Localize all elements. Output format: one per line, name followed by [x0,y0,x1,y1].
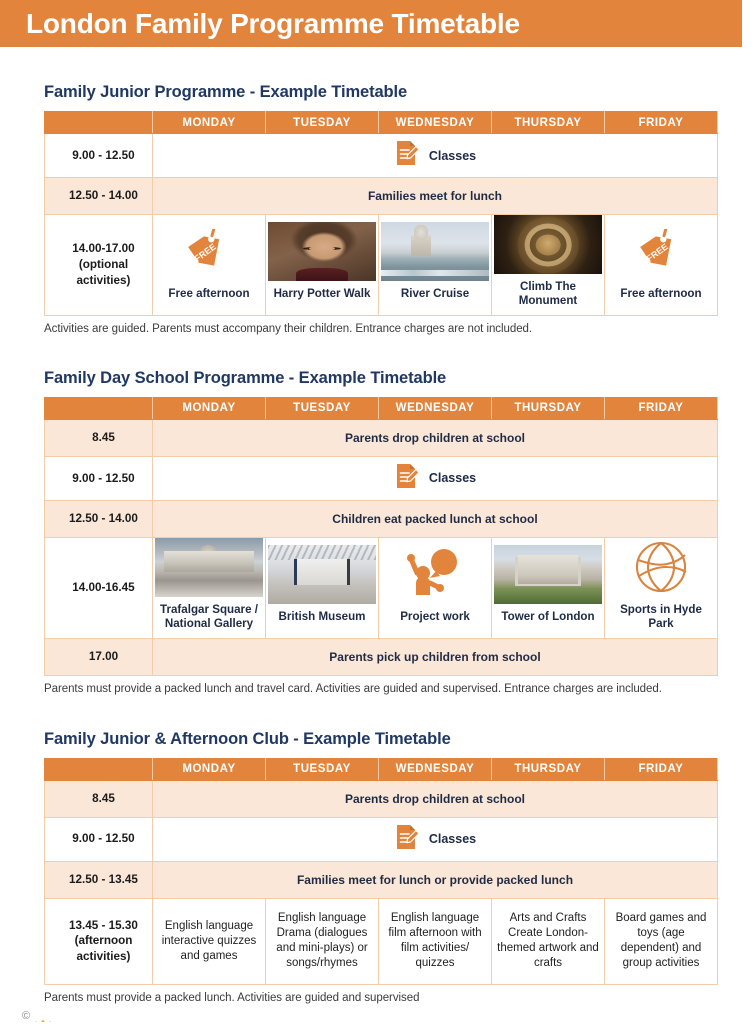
table-row: 13.45 - 15.30 (afternoon activities) Eng… [45,898,718,984]
activity-cell-sports-hyde-park: Sports in Hyde Park [605,537,718,638]
activity-text-cell: Board games and toys (age dependent) and… [605,898,718,984]
activity-label: River Cruise [381,287,489,301]
classes-label: Classes [429,149,476,163]
activity-label: Free afternoon [607,287,715,301]
content-area: Family Junior Programme - Example Timeta… [44,47,720,1004]
free-tag-icon: FREE [607,222,715,281]
header-corner [45,112,153,134]
table-row: 8.45 Parents drop children at school [45,780,718,817]
header-day-friday: FRIDAY [605,397,718,419]
row-span-message: Parents drop children at school [153,780,718,817]
activity-label: Tower of London [494,610,602,624]
header-day-friday: FRIDAY [605,758,718,780]
timetable-family-junior: MONDAY TUESDAY WEDNESDAY THURSDAY FRIDAY… [44,111,718,316]
trafalgar-square-photo [155,538,263,597]
row-time: 14.00-16.45 [45,537,153,638]
project-work-icon [381,545,489,604]
volleyball-icon [607,538,715,597]
header-day-thursday: THURSDAY [492,758,605,780]
header-day-monday: MONDAY [153,112,266,134]
activity-cell-river-cruise: River Cruise [379,215,492,316]
table-header-row: MONDAY TUESDAY WEDNESDAY THURSDAY FRIDAY [45,112,718,134]
timetable-family-day-school: MONDAY TUESDAY WEDNESDAY THURSDAY FRIDAY… [44,397,718,676]
activity-text-cell: English language Drama (dialogues and mi… [266,898,379,984]
activity-cell-harry-potter-walk: Harry Potter Walk [266,215,379,316]
section-title: Family Junior & Afternoon Club - Example… [44,730,720,749]
section-family-junior-afternoon-club: Family Junior & Afternoon Club - Example… [44,695,720,1004]
header-day-thursday: THURSDAY [492,112,605,134]
row-span-message: Families meet for lunch [153,178,718,215]
row-classes-cell: Classes [153,817,718,861]
section-note: Activities are guided. Parents must acco… [44,323,720,335]
activity-cell-free-afternoon-friday: FREE Free afternoon [605,215,718,316]
table-header: MONDAY TUESDAY WEDNESDAY THURSDAY FRIDAY [45,397,718,419]
page-root: London Family Programme Timetable Family… [0,0,755,1024]
row-time: 8.45 [45,419,153,456]
row-classes-cell: Classes [153,134,718,178]
section-title: Family Day School Programme - Example Ti… [44,369,720,388]
header-day-thursday: THURSDAY [492,397,605,419]
activity-label: Free afternoon [155,287,263,301]
activity-text-cell: English language film afternoon with fil… [379,898,492,984]
timetable-afternoon-club: MONDAY TUESDAY WEDNESDAY THURSDAY FRIDAY… [44,758,718,985]
row-time: 14.00-17.00 (optional activities) [45,215,153,316]
activity-label: Project work [381,610,489,624]
classes-label: Classes [429,832,476,846]
header-day-tuesday: TUESDAY [266,397,379,419]
activity-cell-tower-of-london: Tower of London [492,537,605,638]
section-note: Parents must provide a packed lunch and … [44,683,720,695]
table-row: 12.50 - 14.00 Families meet for lunch [45,178,718,215]
activity-label: Climb The Monument [494,280,602,308]
activity-label: Trafalgar Square / National Gallery [155,603,263,631]
tower-of-london-photo [494,545,602,604]
row-time: 9.00 - 12.50 [45,456,153,500]
activity-text-cell: English language interactive quizzes and… [153,898,266,984]
activity-cell-project-work: Project work [379,537,492,638]
activity-label: British Museum [268,610,376,624]
row-span-message: Families meet for lunch or provide packe… [153,861,718,898]
table-row: 12.50 - 14.00 Children eat packed lunch … [45,500,718,537]
table-row: 14.00-17.00 (optional activities) F [45,215,718,316]
row-time: 8.45 [45,780,153,817]
table-row: 14.00-16.45 Trafalgar Square / National … [45,537,718,638]
page-banner: London Family Programme Timetable [0,0,742,47]
activity-text-cell: Arts and Crafts Create London-themed art… [492,898,605,984]
row-time: 12.50 - 13.45 [45,861,153,898]
table-header: MONDAY TUESDAY WEDNESDAY THURSDAY FRIDAY [45,758,718,780]
row-time: 9.00 - 12.50 [45,134,153,178]
classes-label: Classes [429,471,476,485]
row-time: 12.50 - 14.00 [45,178,153,215]
classes-notepad-icon [394,139,420,172]
british-museum-photo [268,545,376,604]
header-day-wednesday: WEDNESDAY [379,397,492,419]
free-tag-icon: FREE [155,222,263,281]
row-time: 12.50 - 14.00 [45,500,153,537]
harry-potter-photo [268,222,376,281]
header-day-wednesday: WEDNESDAY [379,758,492,780]
river-cruise-photo [381,222,489,281]
header-corner [45,758,153,780]
classes-notepad-icon [394,823,420,856]
activity-cell-trafalgar-square: Trafalgar Square / National Gallery [153,537,266,638]
row-time: 9.00 - 12.50 [45,817,153,861]
header-day-tuesday: TUESDAY [266,112,379,134]
table-row: 9.00 - 12.50 [45,134,718,178]
activity-label: Harry Potter Walk [268,287,376,301]
section-note: Parents must provide a packed lunch. Act… [44,992,720,1004]
activity-label: Sports in Hyde Park [607,603,715,631]
classes-notepad-icon [394,462,420,495]
table-header: MONDAY TUESDAY WEDNESDAY THURSDAY FRIDAY [45,112,718,134]
header-day-wednesday: WEDNESDAY [379,112,492,134]
table-row: 8.45 Parents drop children at school [45,419,718,456]
header-day-monday: MONDAY [153,397,266,419]
row-span-message: Parents drop children at school [153,419,718,456]
section-family-day-school: Family Day School Programme - Example Ti… [44,335,720,695]
monument-photo [494,215,602,274]
activity-cell-british-museum: British Museum [266,537,379,638]
header-day-monday: MONDAY [153,758,266,780]
footer-stub-mark: © [22,1012,30,1022]
activity-cell-climb-the-monument: Climb The Monument [492,215,605,316]
table-row: 9.00 - 12.50 [45,456,718,500]
activity-cell-free-afternoon: FREE Free afternoon [153,215,266,316]
table-row: 12.50 - 13.45 Families meet for lunch or… [45,861,718,898]
table-row: 9.00 - 12.50 [45,817,718,861]
section-title: Family Junior Programme - Example Timeta… [44,83,720,102]
header-day-tuesday: TUESDAY [266,758,379,780]
table-header-row: MONDAY TUESDAY WEDNESDAY THURSDAY FRIDAY [45,758,718,780]
header-corner [45,397,153,419]
crown-icon [35,1014,51,1022]
table-header-row: MONDAY TUESDAY WEDNESDAY THURSDAY FRIDAY [45,397,718,419]
table-row: 17.00 Parents pick up children from scho… [45,638,718,675]
header-day-friday: FRIDAY [605,112,718,134]
row-time: 13.45 - 15.30 (afternoon activities) [45,898,153,984]
page-title: London Family Programme Timetable [0,10,520,38]
section-family-junior: Family Junior Programme - Example Timeta… [44,47,720,335]
row-span-message: Parents pick up children from school [153,638,718,675]
row-span-message: Children eat packed lunch at school [153,500,718,537]
footer-logo-stub: © [22,1012,51,1022]
row-time: 17.00 [45,638,153,675]
row-classes-cell: Classes [153,456,718,500]
